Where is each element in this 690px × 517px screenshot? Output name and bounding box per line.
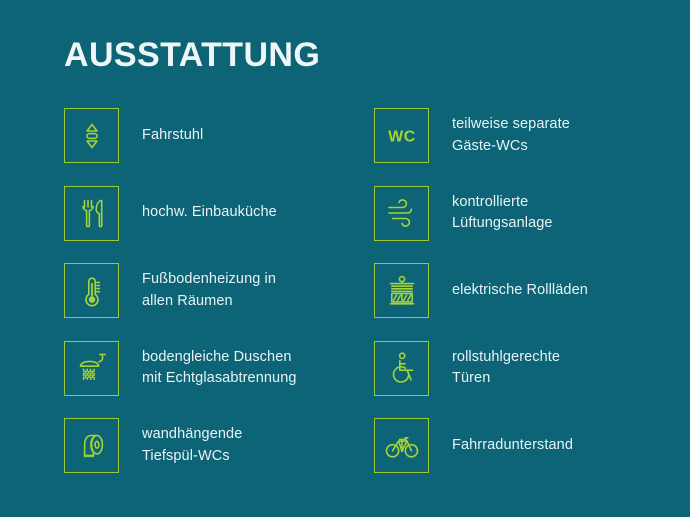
wc-icon: WC [374, 108, 429, 163]
feature-item: hochw. Einbauküche [64, 186, 374, 264]
page-title: AUSSTATTUNG [64, 38, 320, 72]
bicycle-icon [374, 418, 429, 473]
shower-icon [64, 341, 119, 396]
feature-item: WC teilweise separate Gäste-WCs [374, 108, 684, 186]
feature-item: kontrollierte Lüftungsanlage [374, 186, 684, 264]
wind-icon [374, 186, 429, 241]
feature-label: hochw. Einbauküche [142, 186, 277, 241]
feature-item: Fußbodenheizung in allen Räumen [64, 263, 374, 341]
feature-label: rollstuhlgerechte Türen [452, 341, 560, 396]
feature-label: Fahrstuhl [142, 108, 203, 163]
thermometer-icon [64, 263, 119, 318]
feature-label: Fahrradunterstand [452, 418, 573, 473]
slide-ausstattung: AUSSTATTUNG Fahrstuhl [0, 0, 690, 517]
feature-item: elektrische Rollläden [374, 263, 684, 341]
toilet-paper-icon [64, 418, 119, 473]
feature-item: rollstuhlgerechte Türen [374, 341, 684, 419]
feature-item: Fahrradunterstand [374, 418, 684, 496]
wheelchair-icon [374, 341, 429, 396]
window-shutter-icon [374, 263, 429, 318]
cutlery-icon [64, 186, 119, 241]
feature-label: wandhängende Tiefspül-WCs [142, 418, 242, 473]
feature-label: bodengleiche Duschen mit Echtglasabtrenn… [142, 341, 297, 396]
feature-label: elektrische Rollläden [452, 263, 588, 318]
feature-label: kontrollierte Lüftungsanlage [452, 186, 553, 241]
feature-item: wandhängende Tiefspül-WCs [64, 418, 374, 496]
wc-icon-label: WC [388, 128, 416, 145]
feature-label: teilweise separate Gäste-WCs [452, 108, 570, 163]
elevator-icon [64, 108, 119, 163]
feature-item: bodengleiche Duschen mit Echtglasabtrenn… [64, 341, 374, 419]
feature-column-left: Fahrstuhl hochw. Einbauküche [64, 108, 374, 496]
feature-item: Fahrstuhl [64, 108, 374, 186]
feature-label: Fußbodenheizung in allen Räumen [142, 263, 276, 318]
feature-column-right: WC teilweise separate Gäste-WCs kontroll… [374, 108, 684, 496]
